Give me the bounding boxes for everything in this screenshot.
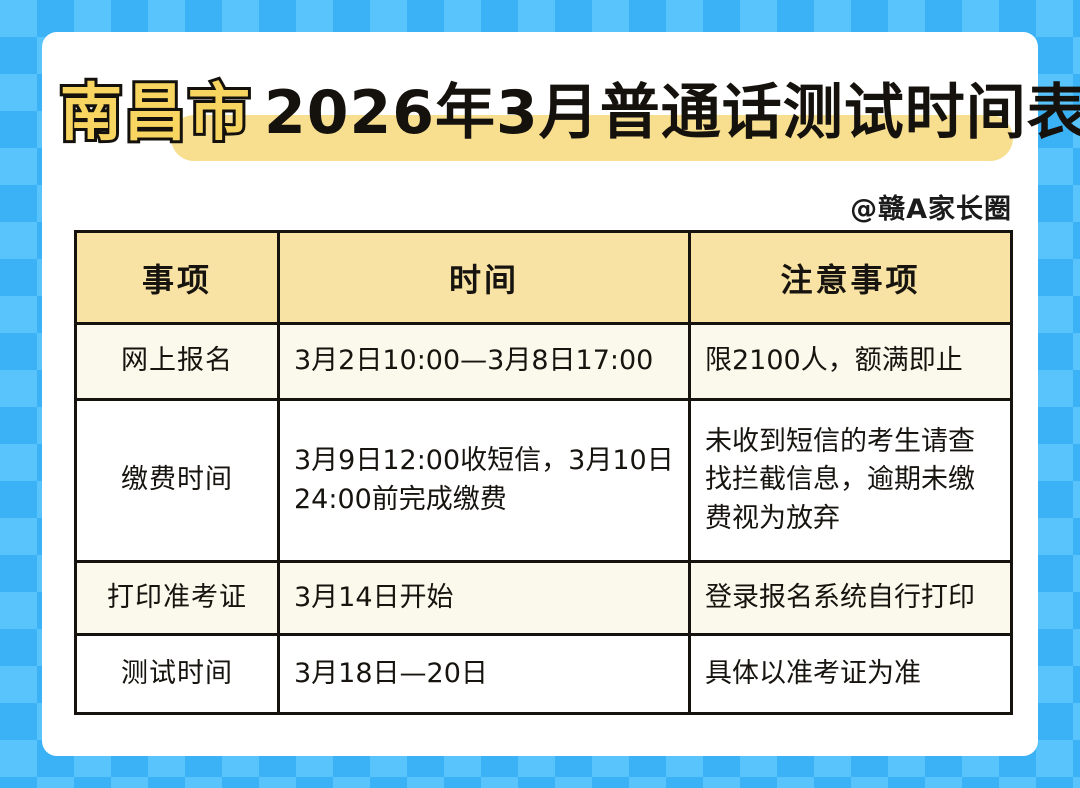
cell-note: 登录报名系统自行打印 <box>690 562 1012 635</box>
content-card: 南昌市 2026年3月普通话测试时间表 @赣A家长圈 事项 时间 注意事项 <box>42 32 1038 756</box>
byline-watermark: @赣A家长圈 <box>850 187 1012 226</box>
cell-time: 3月18日—20日 <box>279 635 690 714</box>
cell-time: 3月9日12:00收短信，3月10日24:00前完成缴费 <box>279 400 690 562</box>
cell-note: 具体以准考证为准 <box>690 635 1012 714</box>
table-row: 网上报名 3月2日10:00—3月8日17:00 限2100人，额满即止 <box>76 324 1012 400</box>
poster-background: 南昌市 2026年3月普通话测试时间表 @赣A家长圈 事项 时间 注意事项 <box>0 0 1080 788</box>
table-body: 网上报名 3月2日10:00—3月8日17:00 限2100人，额满即止 缴费时… <box>76 324 1012 714</box>
cell-time: 3月14日开始 <box>279 562 690 635</box>
column-header-time: 时间 <box>279 232 690 324</box>
schedule-table: 事项 时间 注意事项 网上报名 3月2日10:00—3月8日17:00 限210… <box>74 230 1013 715</box>
title-city: 南昌市 <box>60 82 252 144</box>
table-row: 测试时间 3月18日—20日 具体以准考证为准 <box>76 635 1012 714</box>
schedule-table-wrapper: 事项 时间 注意事项 网上报名 3月2日10:00—3月8日17:00 限210… <box>74 230 1013 715</box>
table-row: 打印准考证 3月14日开始 登录报名系统自行打印 <box>76 562 1012 635</box>
cell-note: 未收到短信的考生请查找拦截信息，逾期未缴费视为放弃 <box>690 400 1012 562</box>
cell-time: 3月2日10:00—3月8日17:00 <box>279 324 690 400</box>
cell-item: 测试时间 <box>76 635 279 714</box>
column-header-note: 注意事项 <box>690 232 1012 324</box>
poster-title: 南昌市 2026年3月普通话测试时间表 <box>42 58 1038 168</box>
cell-item: 打印准考证 <box>76 562 279 635</box>
column-header-item: 事项 <box>76 232 279 324</box>
cell-item: 网上报名 <box>76 324 279 400</box>
table-row: 缴费时间 3月9日12:00收短信，3月10日24:00前完成缴费 未收到短信的… <box>76 400 1012 562</box>
cell-note: 限2100人，额满即止 <box>690 324 1012 400</box>
table-header-row: 事项 时间 注意事项 <box>76 232 1012 324</box>
title-main: 2026年3月普通话测试时间表 <box>264 83 1080 143</box>
title-line: 南昌市 2026年3月普通话测试时间表 <box>42 58 1038 168</box>
table-header: 事项 时间 注意事项 <box>76 232 1012 324</box>
cell-item: 缴费时间 <box>76 400 279 562</box>
